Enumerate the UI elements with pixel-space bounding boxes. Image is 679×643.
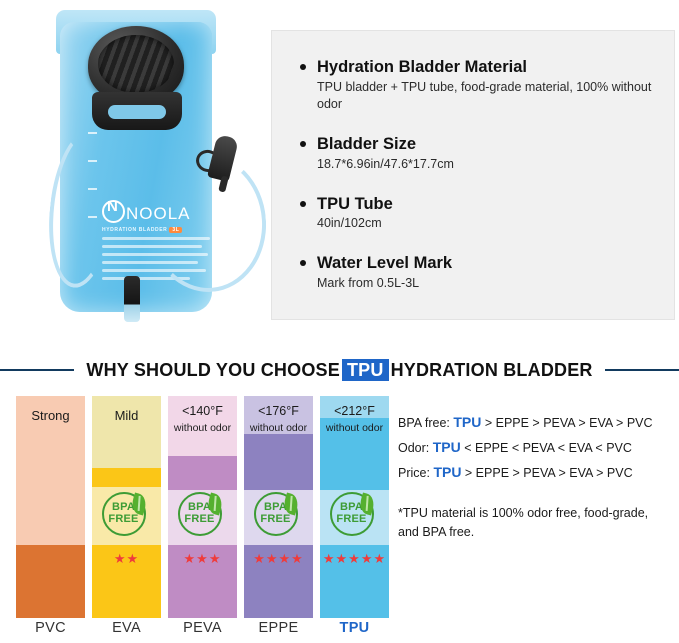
eppe-band-stripe <box>244 434 313 490</box>
spec-item: TPU Tube 40in/102cm <box>298 194 652 233</box>
section-headline: WHY SHOULD YOU CHOOSE TPU HYDRATION BLAD… <box>0 355 679 385</box>
specifications-panel: Hydration Bladder Material TPU bladder +… <box>271 30 675 320</box>
chart-column-pvc: Strong <box>16 396 85 618</box>
spec-item: Bladder Size 18.7*6.96in/47.6*17.7cm <box>298 134 652 173</box>
cap-grip <box>98 35 174 93</box>
chart-label-pvc: PVC <box>16 620 85 636</box>
material-comparison-chart: Strong PVC Mild BPA FREE ★★ EVA <140°F w… <box>0 396 679 643</box>
headline-tpu-highlight: TPU <box>342 359 389 382</box>
ranking-rest: > EPPE > PEVA > EVA > PVC <box>461 466 632 480</box>
product-overview-section: NOOLA HYDRATION BLADDER 3L Hydration Bla… <box>0 0 679 340</box>
eppe-odor-label: without odor <box>244 422 313 434</box>
ranking-best: TPU <box>433 464 461 480</box>
peva-odor-label: without odor <box>168 422 237 434</box>
bpa-label-line2: FREE <box>254 513 298 525</box>
chart-column-eva: Mild BPA FREE ★★ <box>92 396 161 618</box>
headline-after: HYDRATION BLADDER <box>391 360 593 381</box>
eppe-heat-label: <176°F <box>244 404 313 418</box>
chart-column-tpu: <212°F without odor BPA FREE ★★★★★ <box>320 396 389 618</box>
spec-detail: 40in/102cm <box>298 215 652 233</box>
chart-label-eva: EVA <box>92 620 161 636</box>
eva-band-top <box>92 396 161 468</box>
spec-title: Water Level Mark <box>298 253 652 274</box>
eva-band-stripe <box>92 468 161 487</box>
star-rating: ★★★ <box>168 552 237 565</box>
headline-text: WHY SHOULD YOU CHOOSE TPU HYDRATION BLAD… <box>86 359 592 382</box>
spec-detail: TPU bladder + TPU tube, food-grade mater… <box>298 79 652 115</box>
ranking-best: TPU <box>453 414 481 430</box>
eva-odor-label: Mild <box>92 408 161 423</box>
ranking-rest: > EPPE > PEVA > EVA > PVC <box>481 416 652 430</box>
carry-handle <box>92 92 182 130</box>
bpa-label-line2: FREE <box>102 513 146 525</box>
chart-label-tpu: TPU <box>320 620 389 636</box>
product-photo: NOOLA HYDRATION BLADDER 3L <box>36 4 268 322</box>
chart-column-eppe: <176°F without odor BPA FREE ★★★★ <box>244 396 313 618</box>
ranking-prefix: BPA free: <box>398 416 453 430</box>
spec-title: Bladder Size <box>298 134 652 155</box>
bpa-free-badge: BPA FREE <box>254 492 304 542</box>
star-rating: ★★★★ <box>244 552 313 565</box>
chart-column-peva: <140°F without odor BPA FREE ★★★ <box>168 396 237 618</box>
spec-title: TPU Tube <box>298 194 652 215</box>
star-rating: ★★★★★ <box>320 552 389 565</box>
tpu-heat-label: <212°F <box>320 404 389 418</box>
chart-label-eppe: EPPE <box>244 620 313 636</box>
ranking-line: Odor: TPU < EPPE < PEVA < EVA < PVC <box>398 435 674 460</box>
bpa-free-badge: BPA FREE <box>102 492 152 542</box>
tpu-odor-label: without odor <box>320 422 389 434</box>
pvc-odor-label: Strong <box>16 408 85 423</box>
headline-before: WHY SHOULD YOU CHOOSE <box>86 360 340 381</box>
headline-rule-right <box>605 369 679 371</box>
ranking-best: TPU <box>433 439 461 455</box>
ranking-text-block: BPA free: TPU > EPPE > PEVA > EVA > PVC … <box>398 410 674 485</box>
pvc-band-dark <box>16 545 85 618</box>
spec-item: Water Level Mark Mark from 0.5L-3L <box>298 253 652 292</box>
footnote-text: *TPU material is 100% odor free, food-gr… <box>398 504 666 543</box>
ranking-prefix: Odor: <box>398 441 433 455</box>
ranking-prefix: Price: <box>398 466 433 480</box>
ranking-line: BPA free: TPU > EPPE > PEVA > EVA > PVC <box>398 410 674 435</box>
spec-item: Hydration Bladder Material TPU bladder +… <box>298 57 652 114</box>
spec-detail: 18.7*6.96in/47.6*17.7cm <box>298 156 652 174</box>
shutoff-valve <box>124 276 140 322</box>
bpa-free-badge: BPA FREE <box>330 492 380 542</box>
chart-label-peva: PEVA <box>168 620 237 636</box>
spec-detail: Mark from 0.5L-3L <box>298 275 652 293</box>
bpa-label-line2: FREE <box>178 513 222 525</box>
bpa-label-line2: FREE <box>330 513 374 525</box>
spec-title: Hydration Bladder Material <box>298 57 652 78</box>
ranking-rest: < EPPE < PEVA < EVA < PVC <box>461 441 632 455</box>
star-rating: ★★ <box>92 552 161 565</box>
bpa-free-badge: BPA FREE <box>178 492 228 542</box>
ranking-line: Price: TPU > EPPE > PEVA > EVA > PVC <box>398 460 674 485</box>
peva-band-stripe <box>168 456 237 490</box>
headline-rule-left <box>0 369 74 371</box>
peva-heat-label: <140°F <box>168 404 237 418</box>
